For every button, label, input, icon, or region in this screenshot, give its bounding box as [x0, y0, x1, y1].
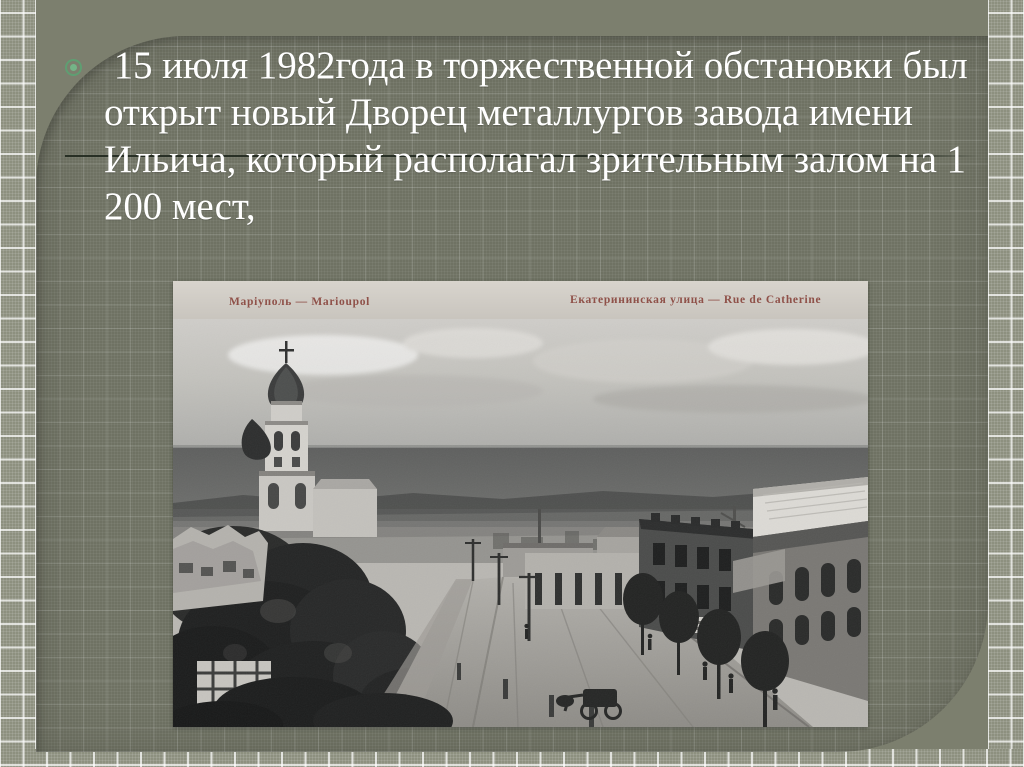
bullet-item-text: 15 июля 1982года в торжественной обстано… [104, 42, 1000, 230]
border-band-left [0, 0, 36, 767]
postcard-illustration: Маріуполь — Marioupol Екатерининская ули… [173, 281, 868, 727]
mariupol-postcard-photo: Маріуполь — Marioupol Екатерининская ули… [173, 281, 868, 727]
photo-caption-left: Маріуполь — Marioupol [229, 296, 370, 308]
body-text-block: 15 июля 1982года в торжественной обстано… [60, 42, 1000, 230]
slide-canvas: 15 июля 1982года в торжественной обстано… [0, 0, 1024, 767]
photo-caption-right: Екатерининская улица — Rue de Catherine [570, 294, 821, 306]
ring-dot-bullet-icon [65, 59, 82, 76]
bullet-list-item: 15 июля 1982года в торжественной обстано… [60, 42, 1000, 230]
